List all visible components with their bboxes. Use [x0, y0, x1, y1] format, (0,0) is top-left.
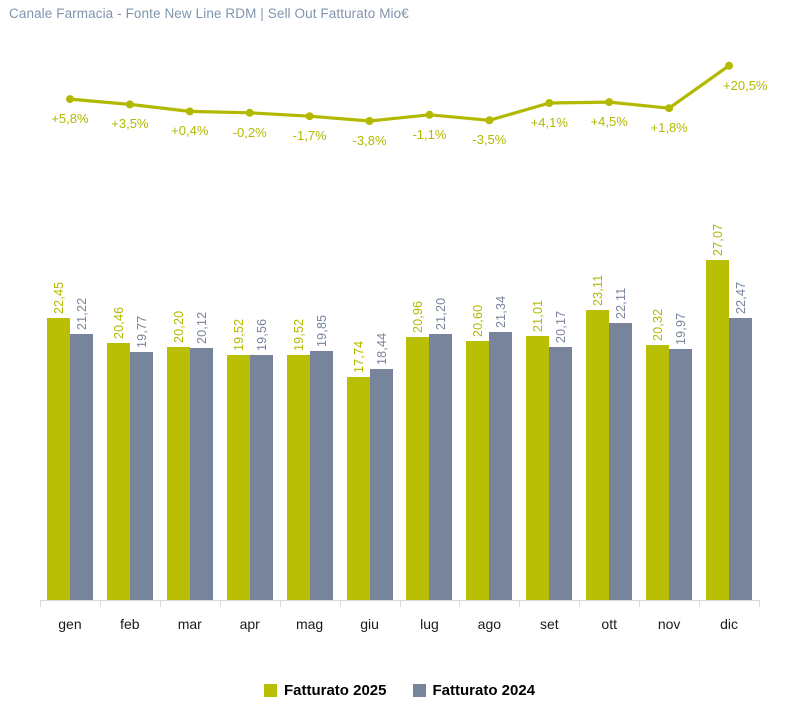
- bar-value-label-2024: 21,34: [494, 296, 508, 328]
- bar-2024[interactable]: [549, 347, 572, 600]
- category-label-lug: lug: [400, 616, 460, 632]
- category-label-ott: ott: [579, 616, 639, 632]
- bar-value-label-2025: 19,52: [292, 319, 306, 351]
- bar-2024[interactable]: [669, 349, 692, 600]
- chart-root: Canale Farmacia - Fonte New Line RDM | S…: [0, 0, 799, 721]
- bar-value-label-2024: 18,44: [375, 332, 389, 364]
- category-label-feb: feb: [100, 616, 160, 632]
- bar-2025[interactable]: [586, 310, 609, 600]
- legend-label-2024: Fatturato 2024: [433, 682, 536, 699]
- bar-value-label-2025: 20,46: [112, 307, 126, 339]
- bar-2024[interactable]: [370, 369, 393, 600]
- bar-chart-panel: 22,4521,2220,4619,7720,2020,1219,5219,56…: [0, 0, 799, 721]
- bar-2024[interactable]: [190, 348, 213, 601]
- bar-value-label-2025: 20,60: [471, 305, 485, 337]
- bar-value-label-2025: 17,74: [352, 341, 366, 373]
- bar-value-label-2025: 21,01: [531, 300, 545, 332]
- bar-value-label-2024: 21,20: [434, 298, 448, 330]
- category-label-gen: gen: [40, 616, 100, 632]
- bar-value-label-2024: 19,85: [315, 315, 329, 347]
- bar-2024[interactable]: [729, 318, 752, 600]
- bar-2025[interactable]: [167, 347, 190, 601]
- bar-2024[interactable]: [609, 323, 632, 600]
- legend-label-2025: Fatturato 2025: [284, 682, 387, 699]
- bar-2024[interactable]: [130, 352, 153, 600]
- bar-2025[interactable]: [526, 336, 549, 600]
- axis-tick: [160, 600, 161, 607]
- bar-2024[interactable]: [489, 332, 512, 600]
- axis-tick: [100, 600, 101, 607]
- bar-2025[interactable]: [287, 355, 310, 600]
- category-label-mag: mag: [280, 616, 340, 632]
- category-label-nov: nov: [639, 616, 699, 632]
- bar-2024[interactable]: [310, 351, 333, 600]
- bar-value-label-2024: 19,97: [674, 313, 688, 345]
- category-label-apr: apr: [220, 616, 280, 632]
- bar-2025[interactable]: [646, 345, 669, 600]
- legend-swatch-icon-2024: [413, 684, 426, 697]
- category-label-mar: mar: [160, 616, 220, 632]
- bar-value-label-2024: 20,17: [554, 311, 568, 343]
- bar-value-label-2025: 27,07: [711, 224, 725, 256]
- bar-value-label-2025: 20,20: [172, 310, 186, 342]
- bar-value-label-2024: 22,11: [614, 287, 628, 318]
- bar-value-label-2025: 23,11: [591, 275, 605, 306]
- bar-value-label-2025: 19,52: [232, 319, 246, 351]
- legend-item-2025[interactable]: Fatturato 2025: [264, 682, 387, 699]
- axis-tick: [400, 600, 401, 607]
- legend-swatch-icon-2025: [264, 684, 277, 697]
- axis-tick: [759, 600, 760, 607]
- bar-value-label-2025: 20,96: [411, 301, 425, 333]
- axis-tick: [280, 600, 281, 607]
- axis-tick: [40, 600, 41, 607]
- plot-area: 22,4521,2220,4619,7720,2020,1219,5219,56…: [40, 180, 759, 600]
- bar-value-label-2025: 20,32: [651, 309, 665, 341]
- bar-value-label-2024: 20,12: [195, 311, 209, 343]
- bar-2025[interactable]: [47, 318, 70, 600]
- bar-2025[interactable]: [107, 343, 130, 600]
- bar-value-label-2024: 19,56: [255, 318, 269, 350]
- legend-item-2024[interactable]: Fatturato 2024: [413, 682, 536, 699]
- category-label-giu: giu: [340, 616, 400, 632]
- category-label-ago: ago: [459, 616, 519, 632]
- axis-tick: [519, 600, 520, 607]
- bar-2024[interactable]: [429, 334, 452, 600]
- category-label-set: set: [519, 616, 579, 632]
- bar-value-label-2024: 21,22: [75, 297, 89, 329]
- bar-2025[interactable]: [466, 341, 489, 600]
- axis-tick: [459, 600, 460, 607]
- bar-2025[interactable]: [406, 337, 429, 600]
- axis-tick: [699, 600, 700, 607]
- bar-2024[interactable]: [250, 355, 273, 600]
- bar-2025[interactable]: [706, 260, 729, 600]
- bar-2025[interactable]: [227, 355, 250, 600]
- axis-tick: [340, 600, 341, 607]
- bar-value-label-2024: 22,47: [734, 282, 748, 314]
- axis-tick: [639, 600, 640, 607]
- bar-value-label-2024: 19,77: [135, 316, 149, 348]
- chart-legend: Fatturato 2025 Fatturato 2024: [0, 682, 799, 699]
- category-label-dic: dic: [699, 616, 759, 632]
- bar-2025[interactable]: [347, 377, 370, 600]
- bar-2024[interactable]: [70, 334, 93, 600]
- axis-tick: [220, 600, 221, 607]
- bar-value-label-2025: 22,45: [52, 282, 66, 314]
- axis-tick: [579, 600, 580, 607]
